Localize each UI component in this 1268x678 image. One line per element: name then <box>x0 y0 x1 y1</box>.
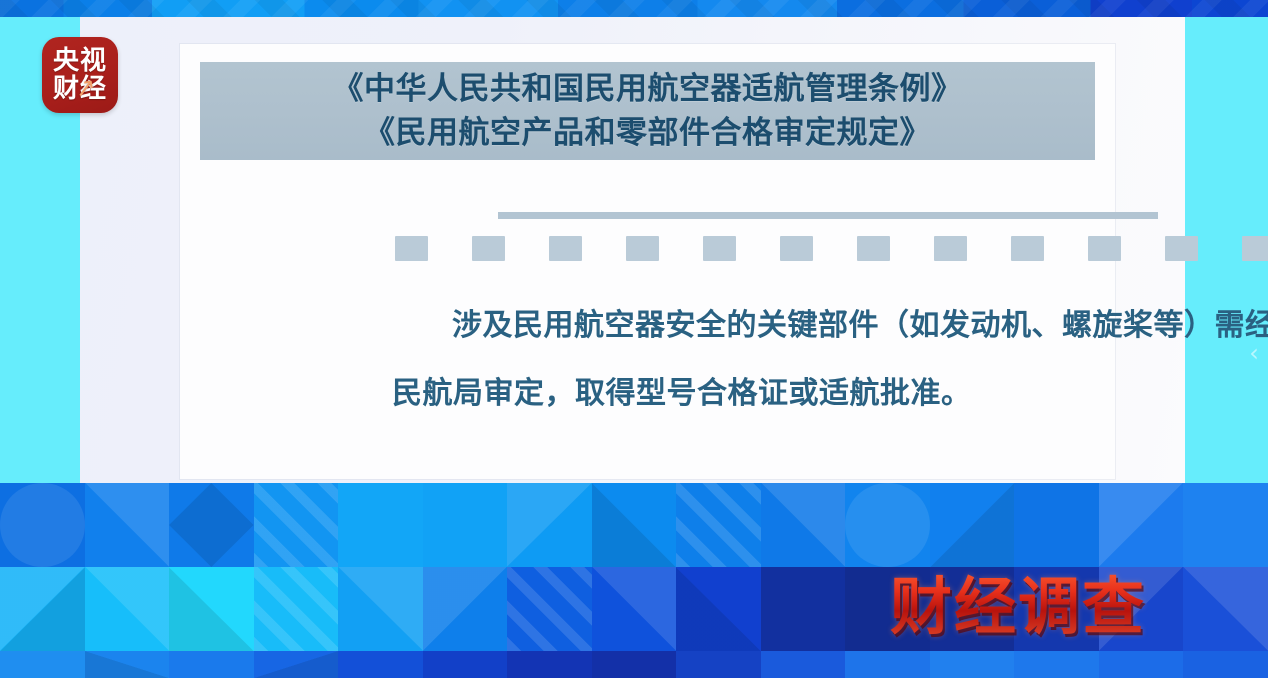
broadcast-screen: ‹ 《中华人民共和国民用航空器适航管理条例》 《民用航空产品和零部件合格审定规定… <box>0 0 1268 678</box>
mosaic-cell <box>1099 651 1184 678</box>
mosaic-cell <box>423 567 508 651</box>
dash-mark <box>703 236 736 261</box>
regulation-title-line-1: 《中华人民共和国民用航空器适航管理条例》 <box>333 67 963 111</box>
mosaic-cell <box>254 483 339 567</box>
mosaic-cell <box>507 567 592 651</box>
program-title-logo: 财经调查 <box>868 560 1168 642</box>
dash-mark <box>626 236 659 261</box>
mosaic-cell <box>169 651 254 678</box>
dash-mark <box>1242 236 1268 261</box>
card-header: 《中华人民共和国民用航空器适航管理条例》 《民用航空产品和零部件合格审定规定》 <box>200 62 1095 160</box>
mosaic-cell <box>930 483 1015 567</box>
mosaic-cell <box>507 483 592 567</box>
divider-bar <box>498 212 1158 219</box>
arrow-up-right-icon: ↗ <box>73 72 99 105</box>
mosaic-cell <box>169 567 254 651</box>
dash-mark <box>472 236 505 261</box>
regulation-body-text: 涉及民用航空器安全的关键部件（如发动机、螺旋桨等）需经民航局审定，取得型号合格证… <box>392 292 1268 428</box>
mosaic-cell <box>761 651 846 678</box>
mosaic-cell <box>0 651 85 678</box>
mosaic-cell <box>1183 567 1268 651</box>
mosaic-cell <box>423 483 508 567</box>
mosaic-cell <box>423 651 508 678</box>
mosaic-cell <box>338 567 423 651</box>
dash-mark <box>857 236 890 261</box>
mosaic-cell <box>1014 651 1099 678</box>
logo-line-yangshi: 央视 <box>42 47 118 75</box>
mosaic-cell <box>845 483 930 567</box>
mosaic-cell <box>1183 651 1268 678</box>
cctv-finance-logo: 央视 财经 ↗ <box>42 37 118 113</box>
mosaic-cell <box>507 651 592 678</box>
mosaic-cell <box>169 483 254 567</box>
mosaic-cell <box>338 483 423 567</box>
dash-mark <box>395 236 428 261</box>
mosaic-cell <box>254 651 339 678</box>
mosaic-cell <box>761 567 846 651</box>
mosaic-cell <box>930 651 1015 678</box>
mosaic-row <box>0 651 1268 678</box>
dash-mark <box>549 236 582 261</box>
mosaic-cell <box>676 483 761 567</box>
top-decorative-band <box>0 0 1268 17</box>
mosaic-cell <box>338 651 423 678</box>
mosaic-cell <box>676 651 761 678</box>
mosaic-cell <box>592 567 677 651</box>
regulation-title-line-2: 《民用航空产品和零部件合格审定规定》 <box>364 111 931 155</box>
mosaic-cell <box>1099 483 1184 567</box>
mosaic-row <box>0 483 1268 567</box>
mosaic-cell <box>85 483 170 567</box>
mosaic-cell <box>254 567 339 651</box>
mosaic-cell <box>761 483 846 567</box>
mosaic-cell <box>85 651 170 678</box>
mosaic-cell <box>85 567 170 651</box>
dash-mark <box>1088 236 1121 261</box>
mosaic-cell <box>1183 483 1268 567</box>
mosaic-cell <box>1014 483 1099 567</box>
mosaic-cell <box>592 483 677 567</box>
dash-mark <box>780 236 813 261</box>
info-card: 《中华人民共和国民用航空器适航管理条例》 《民用航空产品和零部件合格审定规定》 … <box>180 44 1115 479</box>
mosaic-cell <box>0 567 85 651</box>
dash-mark <box>1165 236 1198 261</box>
dash-mark <box>1011 236 1044 261</box>
dash-decoration-row <box>395 236 1268 262</box>
dash-mark <box>934 236 967 261</box>
mosaic-cell <box>845 651 930 678</box>
mosaic-cell <box>676 567 761 651</box>
mosaic-cell <box>592 651 677 678</box>
mosaic-cell <box>0 483 85 567</box>
